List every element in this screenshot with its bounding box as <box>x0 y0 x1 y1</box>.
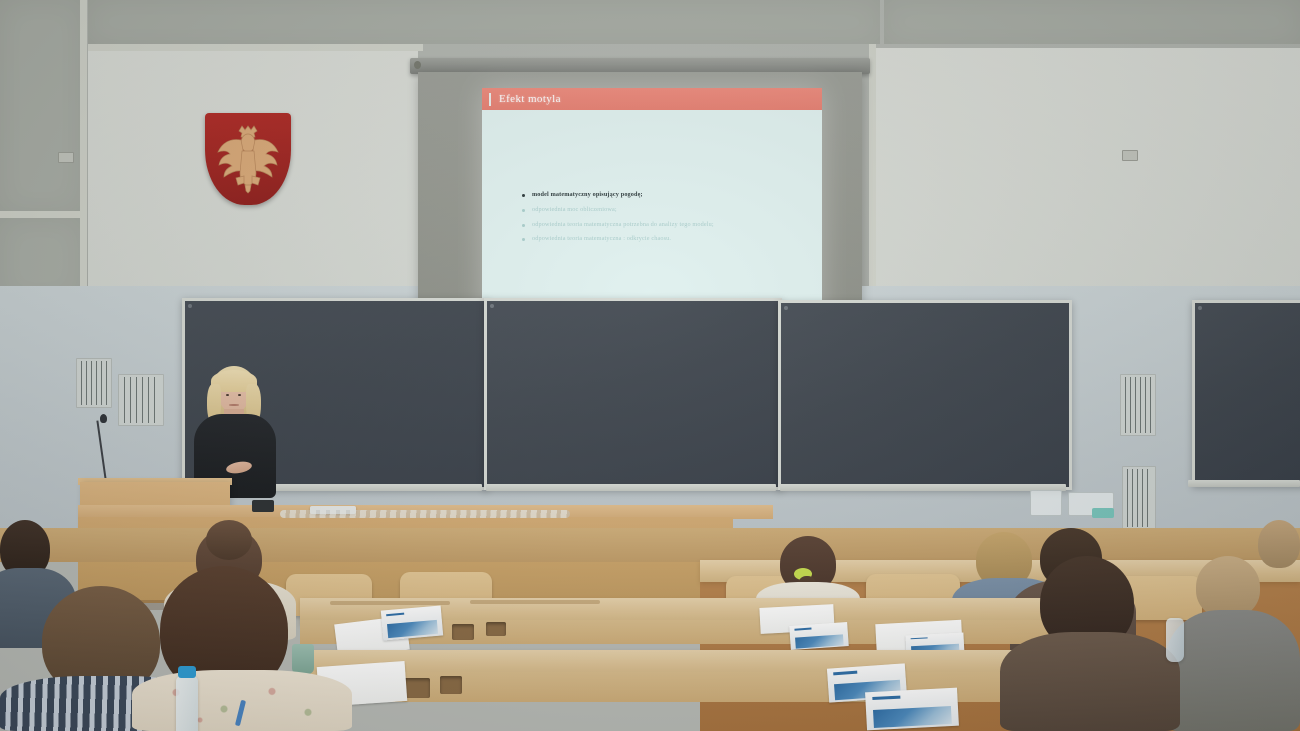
projector-remote <box>252 500 274 512</box>
presenter-mouth <box>229 404 239 406</box>
wall-trim-vertical-2 <box>869 44 876 302</box>
wall-socket-left <box>58 152 74 163</box>
wall-vent-upper-right <box>1120 374 1156 436</box>
wall-trim-horizontal-1 <box>0 211 86 218</box>
bullet-dot-icon <box>522 238 525 241</box>
bullet-dot-icon <box>522 209 525 212</box>
wall-socket-right <box>1122 150 1138 161</box>
bullet-text: odpowiednia teoria matematyczna potrzebn… <box>532 222 714 229</box>
chalk-tray-center <box>486 484 776 491</box>
wall-panel-left-top <box>0 0 82 212</box>
wall-trim-vertical-1 <box>80 0 87 302</box>
student-head-far-5 <box>1258 520 1300 568</box>
brochure-2 <box>789 622 849 650</box>
microphone-head-icon <box>100 414 107 423</box>
bottle-cap <box>178 666 196 678</box>
teal-object-right <box>1092 508 1114 518</box>
wall-vent-lower-right <box>1122 466 1156 530</box>
wall-trim-horizontal-2 <box>88 44 423 51</box>
bullet-text: model matematyczny opisujący pogodę; <box>532 192 643 199</box>
desk-slot-2 <box>330 601 450 605</box>
brochure-1 <box>381 605 443 640</box>
desk-notch-2a <box>452 624 474 640</box>
blackboard-right-far <box>1192 300 1300 486</box>
white-eagle-icon <box>214 121 282 195</box>
desk-slot-3 <box>470 600 600 604</box>
slide-title-bar: Efekt motyla <box>482 88 822 110</box>
bullet-text: odpowiednia moc obliczeniowa; <box>532 207 617 214</box>
chalk-tray-center-right <box>780 484 1066 491</box>
desk-notch-1b <box>440 676 462 694</box>
water-bottle <box>176 676 198 731</box>
blackboard-center <box>484 298 782 490</box>
student-shoulders-near-5 <box>1000 632 1180 731</box>
wall-vent-lower-left <box>118 374 164 426</box>
water-bottle-right <box>1166 618 1184 662</box>
brochure-5 <box>865 688 959 731</box>
cable-run <box>280 510 570 518</box>
glass-container-right <box>1030 490 1062 516</box>
blackboard-center-right <box>778 300 1072 490</box>
wall-panel-upper-center <box>88 0 880 44</box>
slide-bullet-list: model matematyczny opisujący pogodę; odp… <box>522 192 806 251</box>
desk-notch-2b <box>486 622 506 636</box>
presenter <box>186 366 282 496</box>
slide-bullet-item: model matematyczny opisujący pogodę; <box>522 192 806 199</box>
slide-bullet-item: odpowiednia teoria matematyczna potrzebn… <box>522 222 806 229</box>
slide-title: Efekt motyla <box>499 93 561 105</box>
bullet-dot-icon <box>522 224 525 227</box>
student-head-far-4 <box>1196 556 1260 618</box>
student-shoulders-far-4 <box>1166 610 1300 731</box>
chalk-tray-right <box>1188 480 1300 487</box>
wall-panel-upper-right <box>884 0 1300 44</box>
student-hair-bun <box>206 520 252 560</box>
tier-riser-back <box>0 528 1300 562</box>
polish-coat-of-arms <box>205 113 291 205</box>
bullet-text: odpowiednia teoria matematyczna : odkryc… <box>532 236 671 243</box>
screen-roller-knob <box>414 61 421 69</box>
lecture-hall-photo: Efekt motyla model matematyczny opisując… <box>0 0 1300 731</box>
slide-bullet-item: odpowiednia moc obliczeniowa; <box>522 207 806 214</box>
desk-notch-1a <box>404 678 430 698</box>
wall-panel-light-right <box>874 48 1300 300</box>
slide-title-tick <box>489 93 491 106</box>
desk-cup <box>292 644 314 674</box>
slide-bullet-item: odpowiednia teoria matematyczna : odkryc… <box>522 236 806 243</box>
wall-vent-upper-left <box>76 358 112 408</box>
bullet-dot-icon <box>522 194 525 197</box>
